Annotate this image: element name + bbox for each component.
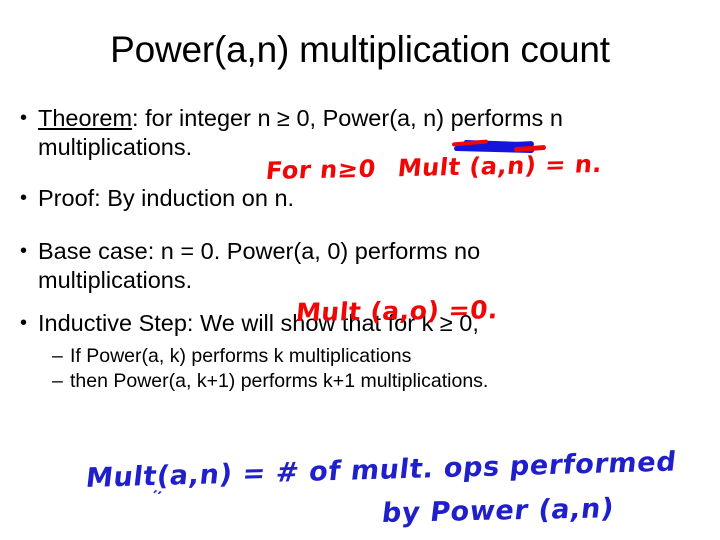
ink-scribble-strikethrough <box>440 138 560 160</box>
bullet-proof-line1: Proof: By induction on n. <box>38 184 702 213</box>
ink-annotation-base-case: Mult (a,o) =0. <box>295 295 500 327</box>
bullet-marker-icon: • <box>20 104 27 133</box>
bullet-base-case-line1: Base case: n = 0. Power(a, 0) performs n… <box>38 237 702 266</box>
theorem-label: Theorem <box>38 105 132 131</box>
bullet-marker-icon: • <box>20 309 27 338</box>
sub-bullet-if: – If Power(a, k) performs k multiplicati… <box>12 344 702 369</box>
bullet-list: • Theorem: for integer n ≥ 0, Power(a, n… <box>12 104 702 394</box>
ink-theorem-condition: For n≥0 <box>265 155 378 185</box>
spacer-2 <box>12 215 702 237</box>
bullet-marker-icon: • <box>20 237 27 266</box>
ink-annotation-definition-line2: by Power (a,n) <box>380 493 616 529</box>
sub-bullet-marker-icon: – <box>52 344 63 369</box>
sub-bullet-if-text: If Power(a, k) performs k multiplication… <box>70 345 411 367</box>
sub-bullet-marker-icon: – <box>52 369 63 394</box>
theorem-statement: : for integer n ≥ 0, Power(a, n) perform… <box>132 105 563 131</box>
bullet-base-case-line2: multiplications. <box>38 266 702 295</box>
sub-bullet-then-text: then Power(a, k+1) performs k+1 multipli… <box>70 370 488 392</box>
bullet-marker-icon: • <box>20 184 27 213</box>
bullet-theorem-line1: Theorem: for integer n ≥ 0, Power(a, n) … <box>38 104 702 133</box>
ink-annotation-definition-line1: Mult(a,n) = # of mult. ops performed <box>84 447 678 494</box>
bullet-base-case: • Base case: n = 0. Power(a, 0) performs… <box>12 237 702 295</box>
slide-canvas: Power(a,n) multiplication count • Theore… <box>0 0 720 540</box>
sub-bullet-then: – then Power(a, k+1) performs k+1 multip… <box>12 369 702 394</box>
bullet-proof: • Proof: By induction on n. <box>12 184 702 213</box>
page-title: Power(a,n) multiplication count <box>0 28 720 72</box>
